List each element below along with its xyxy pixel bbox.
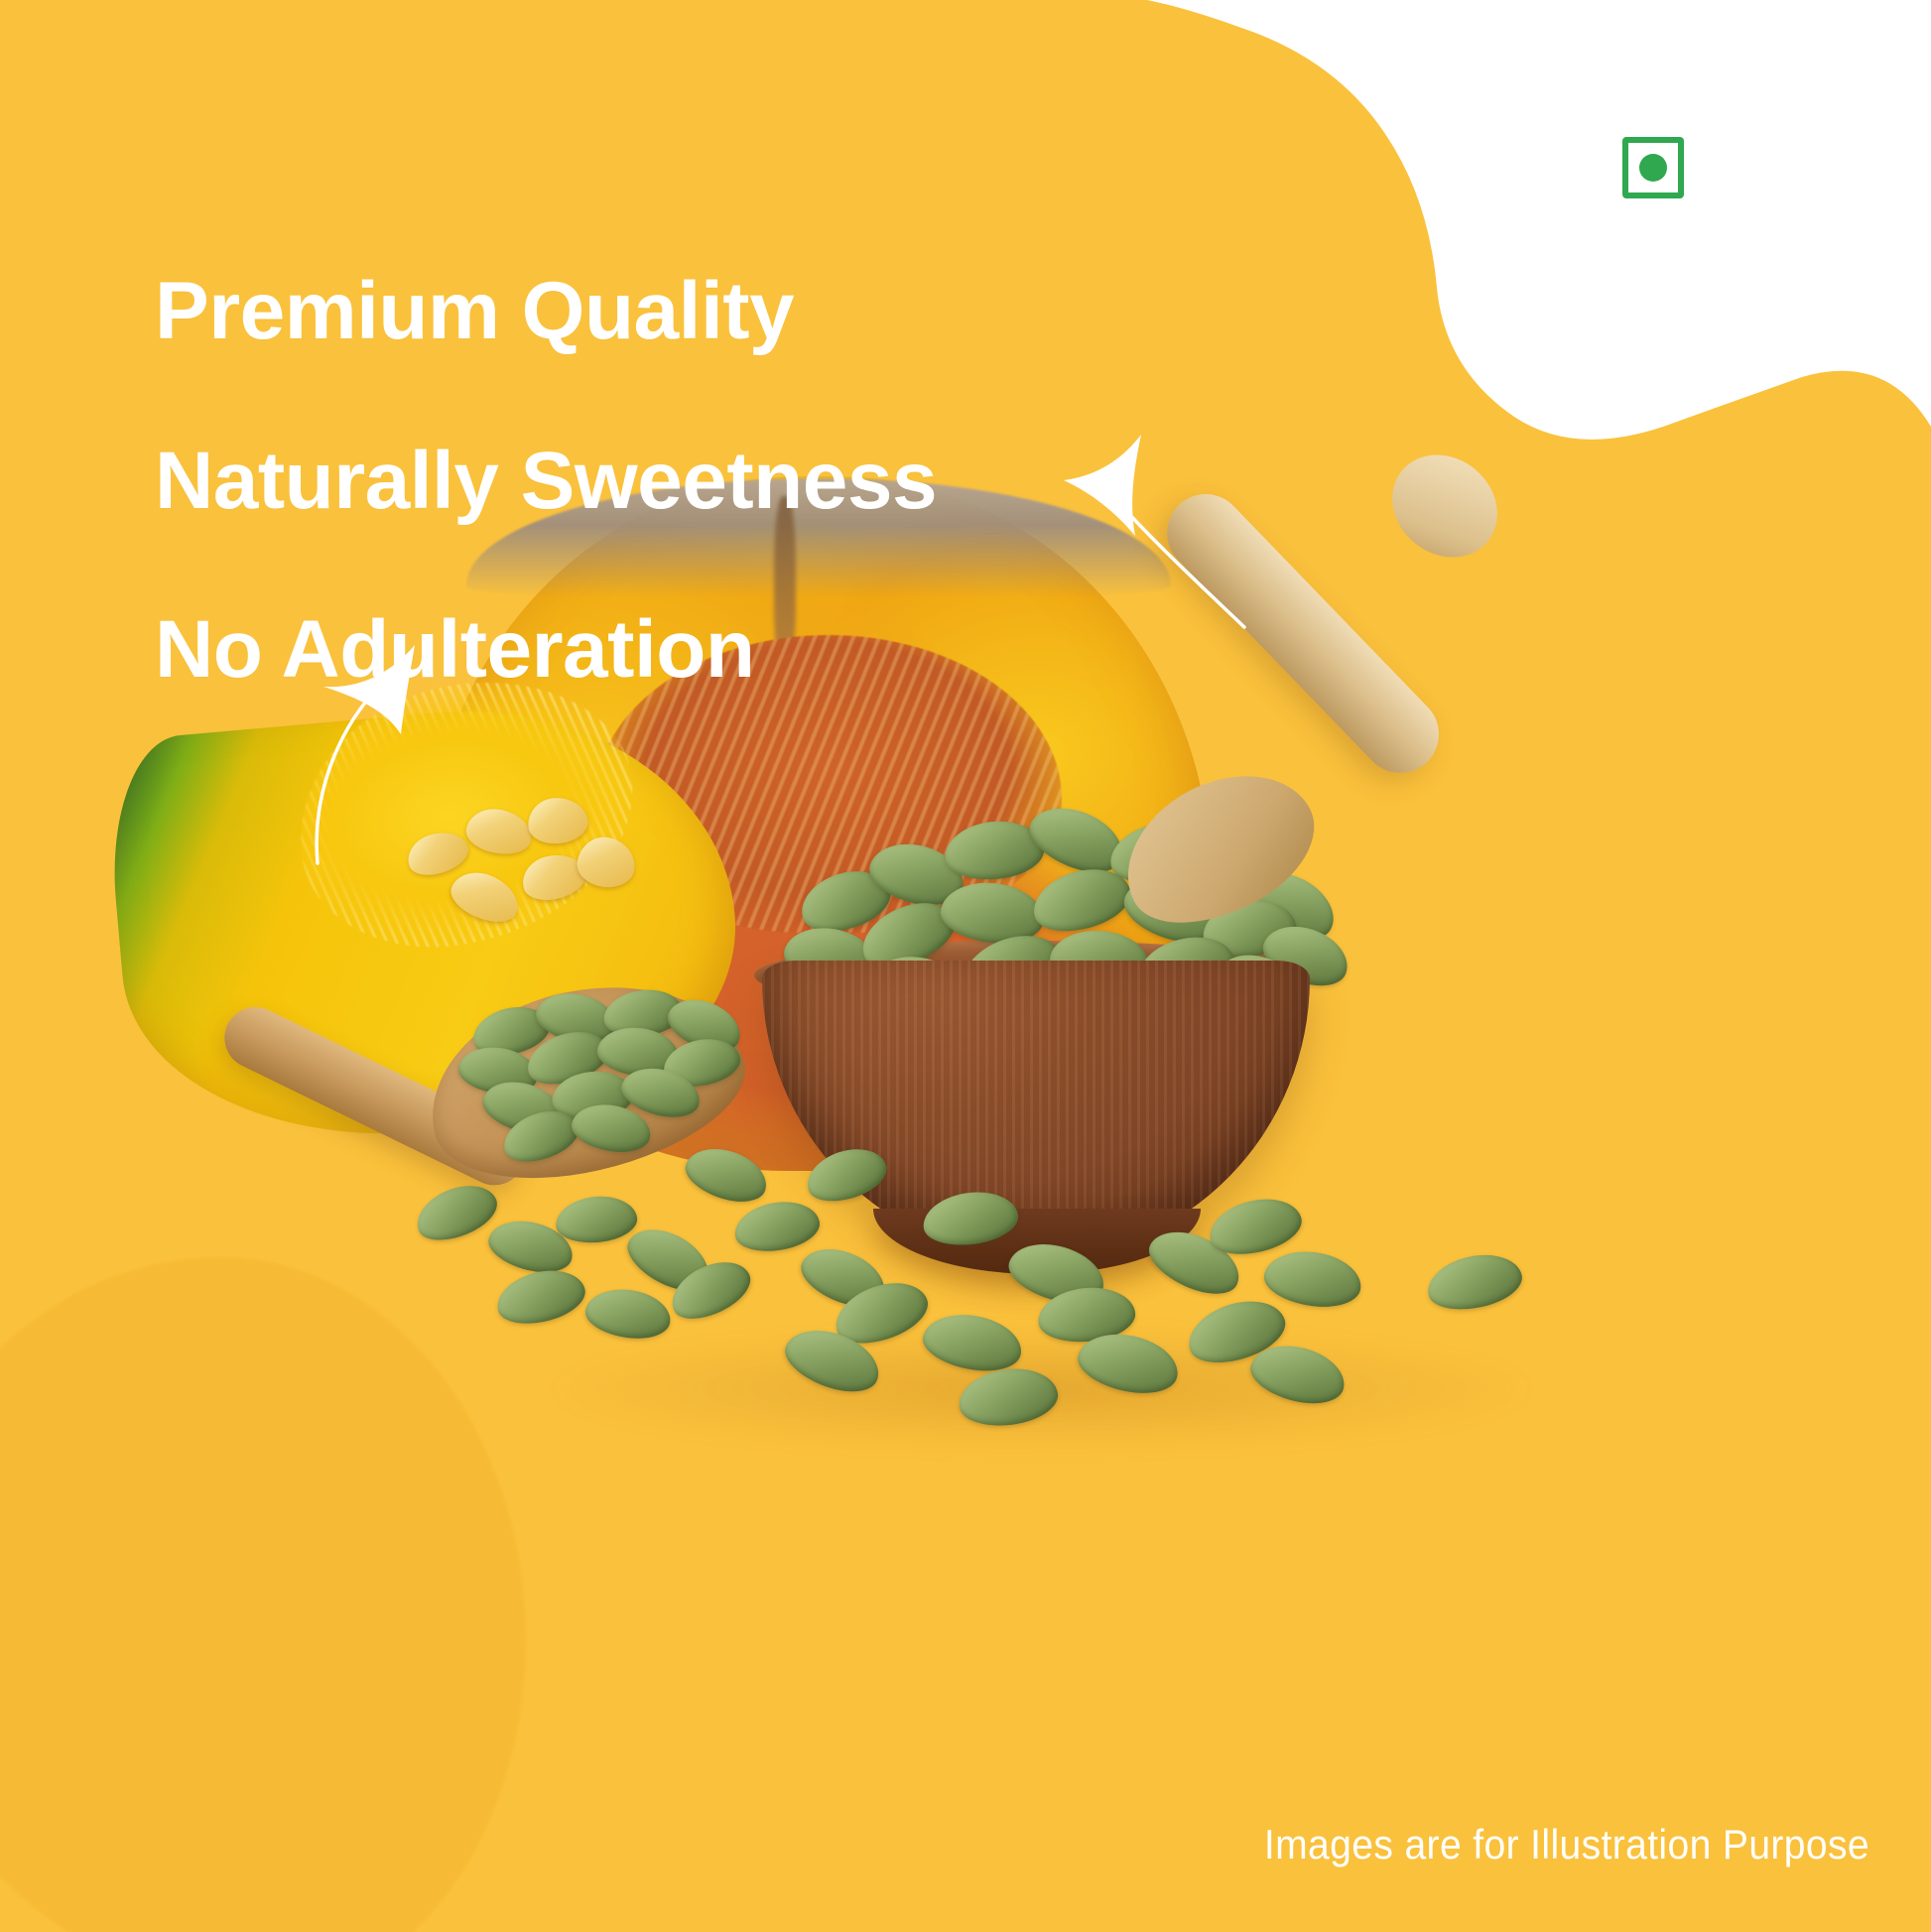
pumpkin-seed [1133,1030,1237,1111]
pumpkin-seed [1261,1245,1365,1312]
pumpkin-seed [1245,1337,1351,1412]
small-spoon-handle [214,996,536,1195]
illustration-disclaimer: Images are for Illustration Purpose [1264,1821,1869,1868]
raw-pumpkin-seed [526,795,589,846]
pumpkin-seed [1051,1027,1151,1093]
pumpkin-seed [867,946,978,1028]
pumpkin-seed [554,1193,639,1246]
pumpkin-seed [938,878,1047,949]
pumpkin-seed [496,1101,584,1171]
pumpkin-seed [954,923,1069,1011]
raw-pumpkin-seed [575,834,638,891]
pumpkin-seed [595,1024,682,1080]
serving-spoon-bowl [1100,745,1337,953]
pumpkin-seed [532,986,621,1050]
pumpkin-seed [1035,1283,1137,1347]
pumpkin-seed [1079,972,1188,1060]
pumpkin-seed [1423,1247,1527,1318]
pumpkin-seed [956,1362,1062,1431]
headline-line-1: Premium Quality [155,269,937,353]
pumpkin-seed [1166,996,1266,1065]
pumpkin-seed [942,817,1047,884]
pumpkin-seed [600,985,686,1042]
pumpkin-seed [828,1271,936,1354]
pumpkin-seed [659,1032,744,1093]
pumpkin-seed [483,1213,578,1279]
pumpkin-seed [582,1284,674,1344]
pumpkin-seed [869,1034,975,1111]
pumpkin-seed [1141,1220,1249,1306]
pumpkin-seed [477,1074,569,1142]
vegetarian-dot [1639,154,1667,182]
serving-spoon-tip [1371,434,1518,579]
wood-grain [762,961,1310,1258]
pumpkin-seed [789,973,889,1039]
vegetarian-mark-icon [1622,137,1684,198]
pumpkin-seed [617,1061,706,1124]
arrow-to-pumpkin-wedge-icon [266,627,494,865]
pumpkin-seed [794,860,898,942]
pumpkin-seed [618,1217,718,1301]
pumpkin-seed [1021,796,1132,884]
pumpkin-seed [730,1196,823,1257]
pumpkin-seed [794,1237,893,1316]
pumpkin-seed [919,1308,1026,1378]
pumpkin-seed [569,1098,655,1157]
pumpkin-seed [991,972,1101,1057]
pumpkin-seed [663,1250,759,1330]
ground-shadow [556,1330,1528,1449]
pumpkin-seed [1026,858,1137,941]
arrow-to-headline-icon [1050,429,1288,637]
wooden-bowl [762,961,1310,1258]
pumpkin-seed [1132,928,1240,1005]
pumpkin-seed [1238,859,1346,952]
pumpkin-seed [780,921,881,991]
raw-pumpkin-seed [518,848,590,906]
pumpkin-seed [852,889,964,979]
pumpkin-seed [680,1139,774,1211]
pumpkin-seed [550,1068,636,1123]
pumpkin-seed [1073,1326,1183,1401]
wooden-bowl-rim [754,941,1318,1010]
small-spoon-bowl [411,957,761,1204]
pumpkin-seed [409,1175,504,1250]
pumpkin-seed [468,999,555,1063]
pumpkin-seed [1002,1234,1110,1313]
product-poster: Premium Quality Naturally Sweetness No A… [0,0,1931,1932]
pumpkin-seed [920,1187,1021,1251]
pumpkin-seed [778,1319,888,1402]
pumpkin-seed [1200,895,1300,964]
raw-pumpkin-seed [445,863,525,930]
pumpkin-seed [1104,814,1216,891]
pumpkin-seed [455,1043,541,1099]
soft-orange-blob [0,1257,526,1932]
pumpkin-seed [1048,928,1151,992]
pumpkin-seed [863,835,969,914]
pumpkin-seed [1204,1190,1307,1262]
pumpkin-seed [815,1004,922,1079]
pumpkin-seed [1210,942,1318,1030]
headline-line-2: Naturally Sweetness [155,439,937,523]
pumpkin-seed [521,1022,615,1094]
wooden-bowl-foot [873,1209,1201,1274]
pumpkin-seed [801,1140,893,1211]
pumpkin-seed [1181,1290,1292,1373]
pumpkin-seed [961,1026,1066,1097]
pumpkin-seed [903,988,1011,1062]
pumpkin-seed [491,1262,589,1332]
pumpkin-seed [1116,867,1226,952]
pumpkin-seed [1255,916,1355,996]
pumpkin-seed [661,989,748,1060]
pumpkin-seed [1184,839,1286,908]
